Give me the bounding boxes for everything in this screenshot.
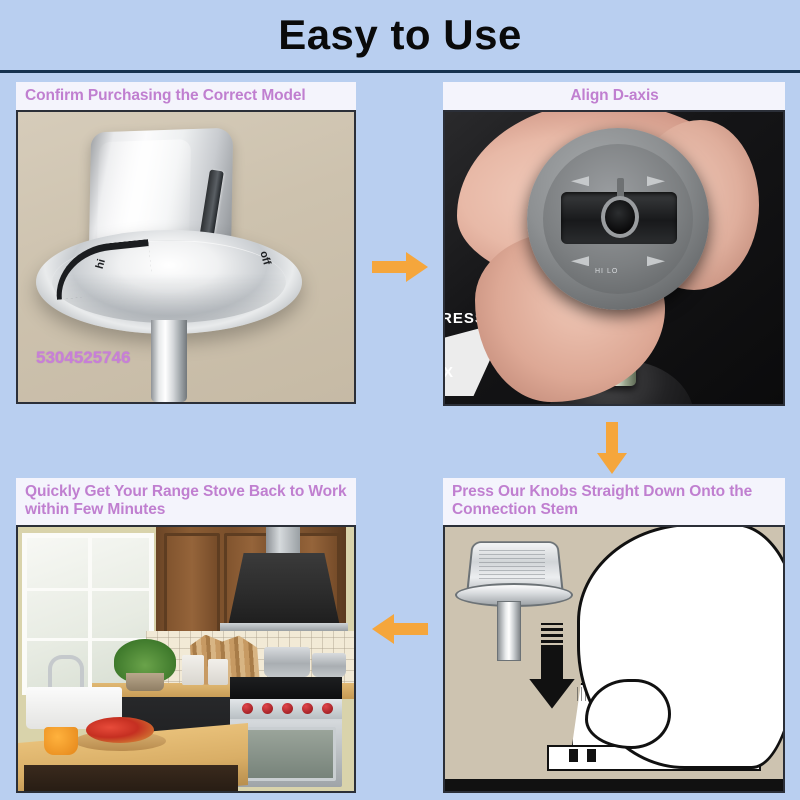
part-number-label: 5304525746	[36, 348, 131, 368]
socket-clip-top-left-icon	[571, 176, 589, 186]
plate-mark-2-icon	[587, 749, 596, 762]
stove-knob-illustration: hi off 5304525746	[18, 112, 354, 402]
range-hood-icon	[228, 553, 340, 627]
range-cooktop-icon	[230, 677, 342, 699]
range-knob-1[interactable]	[242, 703, 253, 714]
range-oven-door-icon[interactable]	[236, 727, 336, 781]
socket-clip-bottom-left-icon	[571, 256, 589, 266]
knob-stem-icon	[151, 320, 187, 402]
socket-clip-bottom-right-icon	[647, 256, 665, 266]
kitchen-island-body-icon	[24, 765, 238, 793]
panel-align-d-axis-header: Align D-axis	[443, 82, 785, 110]
panel-range-back-to-work-photo	[16, 525, 356, 793]
stove-label-x: X	[443, 364, 453, 381]
motion-ticks-icon	[541, 623, 563, 643]
knob-socket-inner-icon: HI LO	[543, 144, 693, 294]
title-divider	[0, 70, 800, 73]
plate-mark-1-icon	[569, 749, 578, 762]
press-down-illustration	[445, 527, 783, 791]
kitchen-pot-icon	[264, 647, 310, 677]
kitchen-pot-2-icon	[312, 653, 346, 677]
socket-clip-top-right-icon	[647, 176, 665, 186]
range-knob-5[interactable]	[322, 703, 333, 714]
range-knob-2[interactable]	[262, 703, 273, 714]
kitchen-jar-icon	[182, 655, 204, 685]
panel-align-d-axis-photo: RESS X HI LO	[443, 110, 785, 406]
arrow-left-icon	[372, 612, 428, 646]
d-axis-alignment-illustration: RESS X HI LO	[445, 112, 783, 404]
page-title: Easy to Use	[0, 0, 800, 70]
panel-press-knobs-down-header: Press Our Knobs Straight Down Onto the C…	[443, 478, 785, 525]
socket-hole-icon	[601, 196, 639, 238]
knob-stem-line-icon	[497, 601, 521, 661]
panel-press-knobs-down-photo	[443, 525, 785, 793]
range-knob-4[interactable]	[302, 703, 313, 714]
kitchen-fruit-bowl-icon	[86, 717, 154, 743]
panel-align-d-axis: Align D-axis RESS X HI LO	[443, 82, 785, 406]
knob-body-texture-icon	[479, 549, 545, 579]
kitchen-jar-2-icon	[208, 659, 228, 685]
kitchen-cup-icon	[44, 727, 78, 755]
panel-confirm-model-photo: hi off 5304525746	[16, 110, 356, 404]
panel-range-back-to-work-header: Quickly Get Your Range Stove Back to Wor…	[16, 478, 356, 525]
knob-socket-icon: HI LO	[527, 128, 709, 310]
arrow-down-icon	[595, 422, 629, 474]
press-arrow-head-icon	[529, 679, 575, 709]
panel-confirm-model: Confirm Purchasing the Correct Model hi …	[16, 82, 356, 404]
arrow-right-icon	[372, 250, 428, 284]
panel-press-knobs-down: Press Our Knobs Straight Down Onto the C…	[443, 478, 785, 793]
kitchen-planter-icon	[126, 673, 164, 691]
range-hood-duct-icon	[266, 527, 300, 557]
socket-molded-text: HI LO	[595, 268, 618, 275]
panel-range-back-to-work: Quickly Get Your Range Stove Back to Wor…	[16, 478, 356, 793]
thumb-line-icon	[585, 679, 671, 749]
range-knob-3[interactable]	[282, 703, 293, 714]
bottom-strip-icon	[445, 779, 783, 791]
panel-confirm-model-header: Confirm Purchasing the Correct Model	[16, 82, 356, 110]
